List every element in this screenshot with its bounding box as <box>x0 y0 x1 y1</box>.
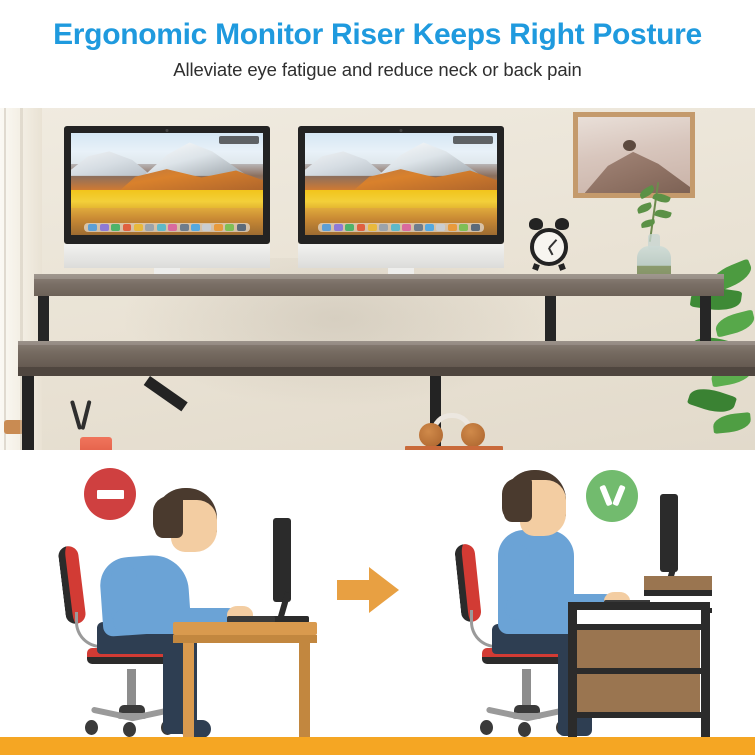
floor-bar <box>0 737 755 755</box>
dock-icon[interactable] <box>322 224 331 231</box>
monitor-screen <box>71 133 263 235</box>
dock-icon[interactable] <box>191 224 200 231</box>
headphone-earcup <box>419 423 443 447</box>
dock-icon[interactable] <box>391 224 400 231</box>
illus-desk-edge <box>173 635 317 643</box>
monitor-riser-shelf <box>34 274 724 296</box>
headphones <box>415 413 487 449</box>
dock-icon[interactable] <box>134 224 143 231</box>
alarm-clock <box>528 218 570 270</box>
dock-icon[interactable] <box>345 224 354 231</box>
cabinet-drawer <box>576 674 700 712</box>
check-mark-v <box>600 484 625 509</box>
dock-icon[interactable] <box>202 224 211 231</box>
monitor-chin <box>298 244 504 268</box>
monitor-bezel <box>298 126 504 244</box>
clock-foot <box>558 263 566 271</box>
good-posture-panel <box>382 452 752 755</box>
webcam-icon <box>400 129 403 132</box>
dock-icon[interactable] <box>100 224 109 231</box>
book <box>405 446 503 450</box>
clock-bell <box>555 218 569 230</box>
caster-wheel <box>518 722 531 737</box>
dock-icon[interactable] <box>402 224 411 231</box>
cabinet-top <box>568 602 710 610</box>
framed-wall-art <box>573 112 695 198</box>
check-mark-icon <box>586 470 638 522</box>
page-subtitle: Alleviate eye fatigue and reduce neck or… <box>0 59 755 81</box>
clock-bell <box>529 218 543 230</box>
scissors <box>66 400 100 442</box>
right-monitor <box>298 126 504 278</box>
monitor-screen <box>305 133 497 235</box>
person-hair-side <box>502 478 532 522</box>
desk-leg <box>22 376 34 450</box>
plant-leaf <box>712 412 752 434</box>
cabinet-gap <box>574 610 704 624</box>
dock-icon[interactable] <box>436 224 445 231</box>
art-hill-shape <box>585 143 690 193</box>
book-stack: THRIFT <box>405 446 503 450</box>
art-tree-shape <box>623 140 636 151</box>
dock-icon[interactable] <box>145 224 154 231</box>
monitor-bezel <box>64 126 270 244</box>
dock-icon[interactable] <box>334 224 343 231</box>
dock-icon[interactable] <box>414 224 423 231</box>
dock-icon[interactable] <box>471 224 480 231</box>
chair-post <box>522 669 531 707</box>
dock-icon[interactable] <box>379 224 388 231</box>
dock-icon[interactable] <box>368 224 377 231</box>
left-monitor <box>64 126 270 278</box>
menu-bar <box>453 136 493 144</box>
illus-riser-top <box>644 576 712 590</box>
desk-edge <box>18 367 755 376</box>
caster-wheel <box>480 720 493 735</box>
page-title: Ergonomic Monitor Riser Keeps Right Post… <box>0 18 755 52</box>
desk-surface <box>18 341 755 367</box>
illus-monitor-screen <box>660 494 678 572</box>
posture-comparison-illustration <box>0 452 755 755</box>
dock-icon[interactable] <box>225 224 234 231</box>
dock-icon[interactable] <box>111 224 120 231</box>
dock-icon[interactable] <box>180 224 189 231</box>
dock-icon[interactable] <box>88 224 97 231</box>
dock-icon[interactable] <box>157 224 166 231</box>
menu-bar <box>219 136 259 144</box>
dock-icon[interactable] <box>459 224 468 231</box>
dock-icon[interactable] <box>214 224 223 231</box>
pen-cup <box>80 437 112 450</box>
cabinet-drawer <box>576 630 700 668</box>
dock-icon[interactable] <box>357 224 366 231</box>
monitor-chin <box>64 244 270 268</box>
plant-leaf <box>687 383 737 417</box>
dock-icon[interactable] <box>425 224 434 231</box>
caster-wheel <box>85 720 98 735</box>
illus-desk-leg <box>183 643 194 737</box>
clock-foot <box>532 263 540 271</box>
dock-icon[interactable] <box>237 224 246 231</box>
dock <box>84 223 249 232</box>
dock-icon[interactable] <box>448 224 457 231</box>
no-entry-icon <box>84 468 136 520</box>
dock <box>318 223 483 232</box>
curtain-tie <box>4 420 24 434</box>
dock-icon[interactable] <box>123 224 132 231</box>
dock-icon[interactable] <box>168 224 177 231</box>
person-hair-side <box>153 496 183 538</box>
illus-desk-leg <box>299 643 310 737</box>
illus-desk-top <box>173 622 317 635</box>
caster-wheel <box>123 722 136 737</box>
webcam-icon <box>166 129 169 132</box>
product-photo: THRIFT EPSON <box>0 108 755 450</box>
illus-monitor-screen <box>273 518 291 602</box>
no-entry-bar <box>97 490 124 499</box>
clock-face <box>530 228 568 266</box>
chair-post <box>127 669 136 707</box>
headphone-earcup <box>461 423 485 447</box>
clock-hand <box>548 247 553 255</box>
plant-leaf <box>713 309 755 337</box>
scissor-blade <box>80 400 91 430</box>
bad-posture-panel <box>5 452 375 755</box>
header-banner: Ergonomic Monitor Riser Keeps Right Post… <box>0 0 755 108</box>
cabinet-bottom <box>568 712 710 718</box>
